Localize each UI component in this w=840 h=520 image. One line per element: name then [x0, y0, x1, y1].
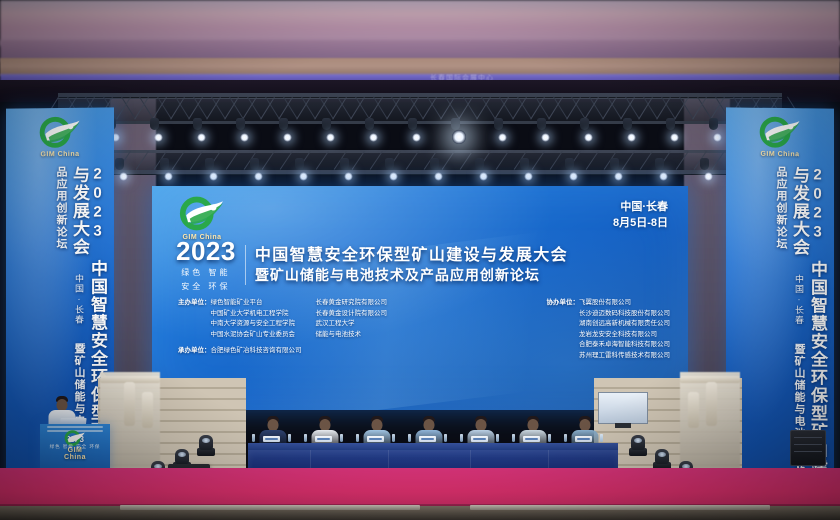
event-location-block: 中国·长春 8月5日-8日: [613, 200, 668, 232]
water-bottle: [548, 434, 551, 442]
balustrade-post: [688, 392, 699, 428]
event-title-primary: 中国智慧安全环保型矿山建设与发展大会: [255, 246, 568, 266]
water-bottle: [252, 434, 255, 442]
left-banner-year: 2023: [89, 166, 106, 242]
water-bottle: [356, 434, 359, 442]
gim-logo-right: GIM China: [754, 116, 806, 159]
name-card: [471, 436, 488, 442]
moving-head-light: [196, 432, 216, 456]
water-bottle: [392, 434, 395, 442]
name-card: [575, 436, 592, 442]
water-bottle: [460, 434, 463, 442]
org-item: 主办单位：中国矿业大学机电工程学院: [178, 309, 302, 320]
org-item: 承办单位：合肥绿色矿冶科技咨询有限公司: [178, 346, 302, 357]
org-item: 协办单位：合肥泰禾卓海智能科技有限公司: [547, 340, 671, 351]
moving-head-light: [628, 432, 648, 456]
event-titles: 中国智慧安全环保型矿山建设与发展大会 暨矿山储能与电池技术及产品应用创新论坛: [255, 246, 568, 284]
org-item: 协办单位：长沙迪迈数码科技股份有限公司: [547, 309, 671, 320]
org-item: 长春黄金研究院有限公司: [316, 298, 388, 309]
co-organizations-column: 协办单位：飞翼股份有限公司协办单位：长沙迪迈数码科技股份有限公司协办单位：湖南创…: [547, 298, 671, 361]
org-item: 协办单位：飞翼股份有限公司: [547, 298, 671, 309]
water-bottle: [564, 434, 567, 442]
org-item: 储能与电池技术: [316, 330, 388, 341]
water-bottle: [444, 434, 447, 442]
name-card: [419, 436, 436, 442]
event-year: 2023: [176, 238, 236, 264]
left-proscenium-wall: [110, 96, 156, 416]
org-item: 主办单位：中南大学资源与安全工程学院: [178, 319, 302, 330]
balustrade-post: [142, 392, 153, 428]
event-city: 中国·长春: [613, 200, 668, 216]
event-slogan-line1: 绿色 智能: [176, 267, 236, 278]
event-year-block: 2023 绿色 智能 安全 环保: [176, 238, 236, 292]
org-item: 协办单位：湖南创远高新机械有限责任公司: [547, 319, 671, 330]
water-bottle: [512, 434, 515, 442]
main-led-screen: GIM China 中国·长春 8月5日-8日 2023 绿色 智能 安全 环保…: [152, 186, 688, 410]
name-card: [315, 436, 332, 442]
conference-stage-photo: 长春国际会展中心 GIM China 2023 中国智慧安全环保型矿山建设与发展…: [0, 0, 840, 520]
left-banner-city: 中国·长春: [74, 274, 84, 325]
event-title-row: 2023 绿色 智能 安全 环保 中国智慧安全环保型矿山建设与发展大会 暨矿山储…: [176, 238, 672, 292]
balustrade-post: [706, 382, 717, 426]
org-item: 主办单位：绿色智能矿业平台: [178, 298, 302, 309]
name-card: [523, 436, 540, 442]
gim-wordmark-right: GIM China: [754, 151, 806, 159]
name-card: [263, 436, 280, 442]
water-bottle: [496, 434, 499, 442]
org-item: 主办单位：中国水泥协会矿山专业委员会: [178, 330, 302, 341]
right-balustrade: [680, 372, 740, 468]
event-slogan-line2: 安全 环保: [176, 281, 236, 292]
equipment-flight-case: [790, 430, 826, 466]
water-bottle: [304, 434, 307, 442]
org-item: 武汉工程大学: [316, 319, 388, 330]
water-bottle: [408, 434, 411, 442]
org-item: 协办单位：苏州理工雷科传感技术有限公司: [547, 351, 671, 362]
stage-confidence-monitor: [598, 392, 648, 424]
gim-logo-left: GIM China: [34, 116, 86, 159]
podium-slogan: 绿色 智能 安全 环保: [40, 444, 110, 450]
monitor-stand: [615, 423, 631, 428]
balustrade-post: [124, 382, 135, 426]
host-organizations-column-2: 长春黄金研究院有限公司长春黄金设计院有限公司武汉工程大学储能与电池技术: [316, 298, 388, 361]
water-bottle: [288, 434, 291, 442]
right-proscenium-wall: [684, 96, 730, 416]
podium-banner-line1: [47, 426, 103, 428]
gim-swirl-icon: [34, 116, 86, 154]
water-bottle: [600, 434, 603, 442]
name-card: [367, 436, 384, 442]
moving-head-light: [652, 446, 672, 470]
event-title-secondary: 暨矿山储能与电池技术及产品应用创新论坛: [255, 266, 568, 284]
front-rail: [470, 505, 770, 510]
right-banner-year: 2023: [809, 166, 826, 242]
front-rail: [120, 505, 420, 510]
org-item: 协办单位：龙岩龙安安全科技有限公司: [547, 330, 671, 341]
organizers-block: 主办单位：绿色智能矿业平台主办单位：中国矿业大学机电工程学院主办单位：中南大学资…: [178, 298, 670, 361]
right-banner-city: 中国·长春: [794, 274, 804, 325]
gim-logo-main: GIM China: [174, 196, 230, 241]
gim-wordmark-left: GIM China: [34, 151, 86, 159]
title-divider: [245, 245, 246, 285]
gim-swirl-icon: [174, 196, 230, 236]
event-dates: 8月5日-8日: [613, 216, 668, 232]
host-organizations-column: 主办单位：绿色智能矿业平台主办单位：中国矿业大学机电工程学院主办单位：中南大学资…: [178, 298, 302, 361]
water-bottle: [340, 434, 343, 442]
org-item: 长春黄金设计院有限公司: [316, 309, 388, 320]
gim-swirl-icon: [754, 116, 806, 154]
